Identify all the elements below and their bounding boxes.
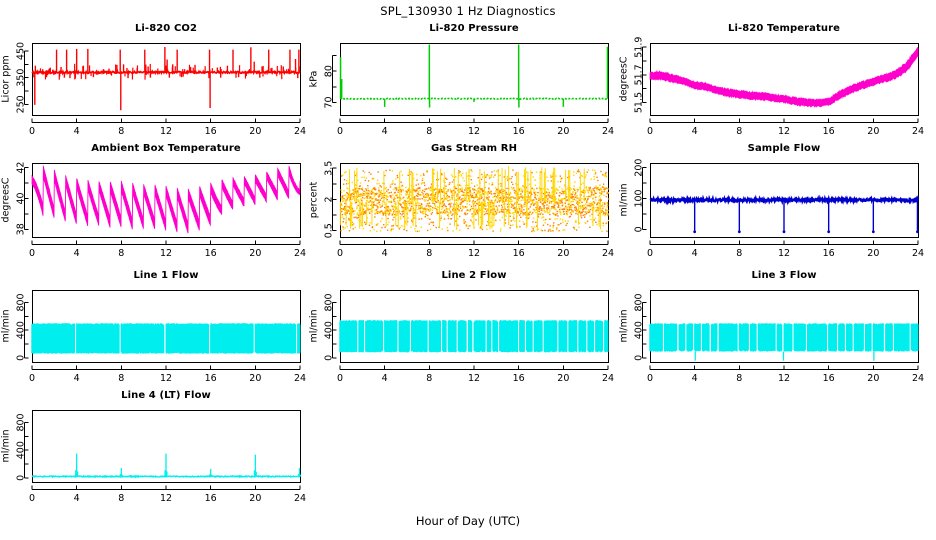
svg-text:24: 24: [602, 248, 614, 259]
svg-text:12: 12: [778, 126, 790, 137]
svg-text:8: 8: [426, 248, 432, 259]
panel-gas-stream-rh: Gas Stream RH0.523.504812162024percent: [308, 143, 616, 265]
svg-text:250: 250: [16, 95, 27, 113]
plot-line-2-flow: 040080004812162024ml/min: [308, 270, 616, 390]
panel-title-line-2-flow: Line 2 Flow: [340, 270, 608, 281]
svg-text:degreesC: degreesC: [619, 56, 630, 101]
svg-text:24: 24: [294, 126, 306, 137]
panel-line-3-flow: Line 3 Flow040080004812162024ml/min: [618, 270, 926, 390]
svg-text:8: 8: [118, 373, 124, 384]
svg-text:4: 4: [382, 126, 388, 137]
svg-text:8: 8: [736, 126, 742, 137]
svg-text:16: 16: [205, 126, 217, 137]
panel-ambient-box-temperature: Ambient Box Temperature38404204812162024…: [0, 143, 308, 265]
svg-text:0: 0: [337, 373, 343, 384]
plot-li820-pressure: 708004812162024kPa: [308, 23, 616, 143]
svg-text:400: 400: [16, 321, 27, 339]
svg-text:0: 0: [647, 126, 653, 137]
trace-li820-pressure: [340, 45, 608, 108]
svg-text:12: 12: [468, 373, 480, 384]
svg-text:0: 0: [337, 126, 343, 137]
panel-sample-flow: Sample Flow010020004812162024ml/min: [618, 143, 926, 265]
svg-text:24: 24: [912, 126, 924, 137]
figure-title: SPL_130930 1 Hz Diagnostics: [0, 4, 936, 18]
plot-gas-stream-rh: 0.523.504812162024percent: [308, 143, 616, 265]
trace-gas-stream-rh: [340, 166, 609, 232]
svg-text:100: 100: [634, 189, 645, 207]
svg-text:20: 20: [249, 248, 261, 259]
svg-text:4: 4: [692, 248, 698, 259]
plot-line-3-flow: 040080004812162024ml/min: [618, 270, 926, 390]
svg-text:0: 0: [647, 248, 653, 259]
trace-li820-co2: [32, 47, 300, 110]
svg-text:8: 8: [426, 126, 432, 137]
plot-line-1-flow: 040080004812162024ml/min: [0, 270, 308, 390]
svg-text:24: 24: [294, 373, 306, 384]
svg-text:12: 12: [468, 248, 480, 259]
panel-li820-co2: Li-820 CO225035045004812162024Licor ppm: [0, 23, 308, 143]
svg-text:800: 800: [324, 293, 335, 311]
svg-text:24: 24: [912, 248, 924, 259]
svg-text:80: 80: [324, 65, 335, 77]
svg-text:24: 24: [602, 126, 614, 137]
svg-text:4: 4: [74, 126, 80, 137]
trace-li820-temperature: [650, 48, 918, 107]
svg-text:12: 12: [160, 126, 172, 137]
plot-ambient-box-temperature: 38404204812162024degreesC: [0, 143, 308, 265]
svg-text:0: 0: [324, 355, 335, 361]
svg-text:0: 0: [29, 373, 35, 384]
svg-text:4: 4: [382, 248, 388, 259]
svg-text:0.5: 0.5: [324, 223, 335, 238]
svg-text:ml/min: ml/min: [309, 309, 320, 342]
svg-text:ml/min: ml/min: [619, 183, 630, 216]
svg-text:kPa: kPa: [309, 71, 320, 88]
svg-text:12: 12: [468, 126, 480, 137]
panel-li820-temperature: Li-820 Temperature51.551.751.90481216202…: [618, 23, 926, 143]
svg-text:16: 16: [205, 248, 217, 259]
svg-text:24: 24: [602, 373, 614, 384]
svg-text:0: 0: [337, 248, 343, 259]
svg-text:24: 24: [294, 248, 306, 259]
panel-title-line-3-flow: Line 3 Flow: [650, 270, 918, 281]
svg-text:Licor ppm: Licor ppm: [1, 55, 12, 102]
svg-text:8: 8: [426, 373, 432, 384]
svg-text:20: 20: [249, 126, 261, 137]
panel-title-gas-stream-rh: Gas Stream RH: [340, 143, 608, 154]
svg-text:20: 20: [557, 248, 569, 259]
svg-text:8: 8: [118, 248, 124, 259]
svg-text:20: 20: [249, 373, 261, 384]
plot-li820-temperature: 51.551.751.904812162024degreesC: [618, 23, 926, 143]
svg-text:51.9: 51.9: [634, 37, 645, 58]
svg-text:0: 0: [16, 355, 27, 361]
svg-text:12: 12: [778, 248, 790, 259]
svg-text:450: 450: [16, 42, 27, 60]
panel-title-line-4-lt-flow: Line 4 (LT) Flow: [32, 390, 300, 401]
svg-text:12: 12: [160, 248, 172, 259]
svg-text:800: 800: [16, 293, 27, 311]
svg-text:16: 16: [823, 126, 835, 137]
svg-text:12: 12: [160, 373, 172, 384]
trace-ambient-box-temperature: [32, 166, 300, 233]
svg-text:40: 40: [16, 192, 27, 204]
svg-text:200: 200: [634, 159, 645, 177]
panel-title-li820-co2: Li-820 CO2: [32, 23, 300, 34]
svg-text:20: 20: [867, 126, 879, 137]
svg-text:20: 20: [557, 126, 569, 137]
svg-text:16: 16: [513, 248, 525, 259]
svg-text:20: 20: [557, 373, 569, 384]
panel-title-li820-temperature: Li-820 Temperature: [650, 23, 918, 34]
plot-li820-co2: 25035045004812162024Licor ppm: [0, 23, 308, 143]
svg-text:4: 4: [692, 126, 698, 137]
svg-text:8: 8: [118, 126, 124, 137]
svg-text:70: 70: [324, 96, 335, 108]
svg-text:0: 0: [29, 126, 35, 137]
figure-x-axis-label: Hour of Day (UTC): [0, 514, 936, 528]
svg-text:0: 0: [634, 226, 645, 232]
svg-text:400: 400: [324, 321, 335, 339]
trace-line-3-flow: [650, 323, 918, 360]
diagnostics-figure: SPL_130930 1 Hz Diagnostics Hour of Day …: [0, 0, 936, 540]
svg-text:percent: percent: [309, 182, 320, 219]
svg-text:16: 16: [513, 126, 525, 137]
svg-text:20: 20: [867, 248, 879, 259]
svg-text:2: 2: [324, 196, 335, 202]
plot-sample-flow: 010020004812162024ml/min: [618, 143, 926, 265]
panel-title-line-1-flow: Line 1 Flow: [32, 270, 300, 281]
svg-text:350: 350: [16, 69, 27, 87]
panel-line-2-flow: Line 2 Flow040080004812162024ml/min: [308, 270, 616, 390]
svg-text:4: 4: [382, 373, 388, 384]
trace-line-4-lt-flow: [32, 454, 300, 477]
svg-text:ml/min: ml/min: [1, 309, 12, 342]
panel-line-4-lt-flow: Line 4 (LT) Flow040080004812162024ml/min: [0, 390, 308, 510]
panel-title-ambient-box-temperature: Ambient Box Temperature: [32, 143, 300, 154]
trace-line-1-flow: [32, 323, 300, 353]
svg-text:38: 38: [16, 223, 27, 235]
panel-title-sample-flow: Sample Flow: [650, 143, 918, 154]
svg-text:0: 0: [29, 248, 35, 259]
trace-line-2-flow: [340, 320, 608, 352]
svg-text:8: 8: [736, 248, 742, 259]
svg-text:16: 16: [823, 248, 835, 259]
panel-line-1-flow: Line 1 Flow040080004812162024ml/min: [0, 270, 308, 390]
svg-text:51.7: 51.7: [634, 64, 645, 85]
svg-text:42: 42: [16, 162, 27, 174]
svg-text:3.5: 3.5: [324, 161, 335, 176]
panel-title-li820-pressure: Li-820 Pressure: [340, 23, 608, 34]
svg-text:4: 4: [74, 248, 80, 259]
svg-text:51.5: 51.5: [634, 92, 645, 113]
svg-text:16: 16: [513, 373, 525, 384]
svg-text:16: 16: [205, 373, 217, 384]
svg-text:4: 4: [74, 373, 80, 384]
svg-text:degreesC: degreesC: [1, 177, 12, 222]
plot-line-4-lt-flow: 040080004812162024ml/min: [0, 390, 308, 510]
trace-sample-flow: [650, 199, 919, 234]
panel-li820-pressure: Li-820 Pressure708004812162024kPa: [308, 23, 616, 143]
